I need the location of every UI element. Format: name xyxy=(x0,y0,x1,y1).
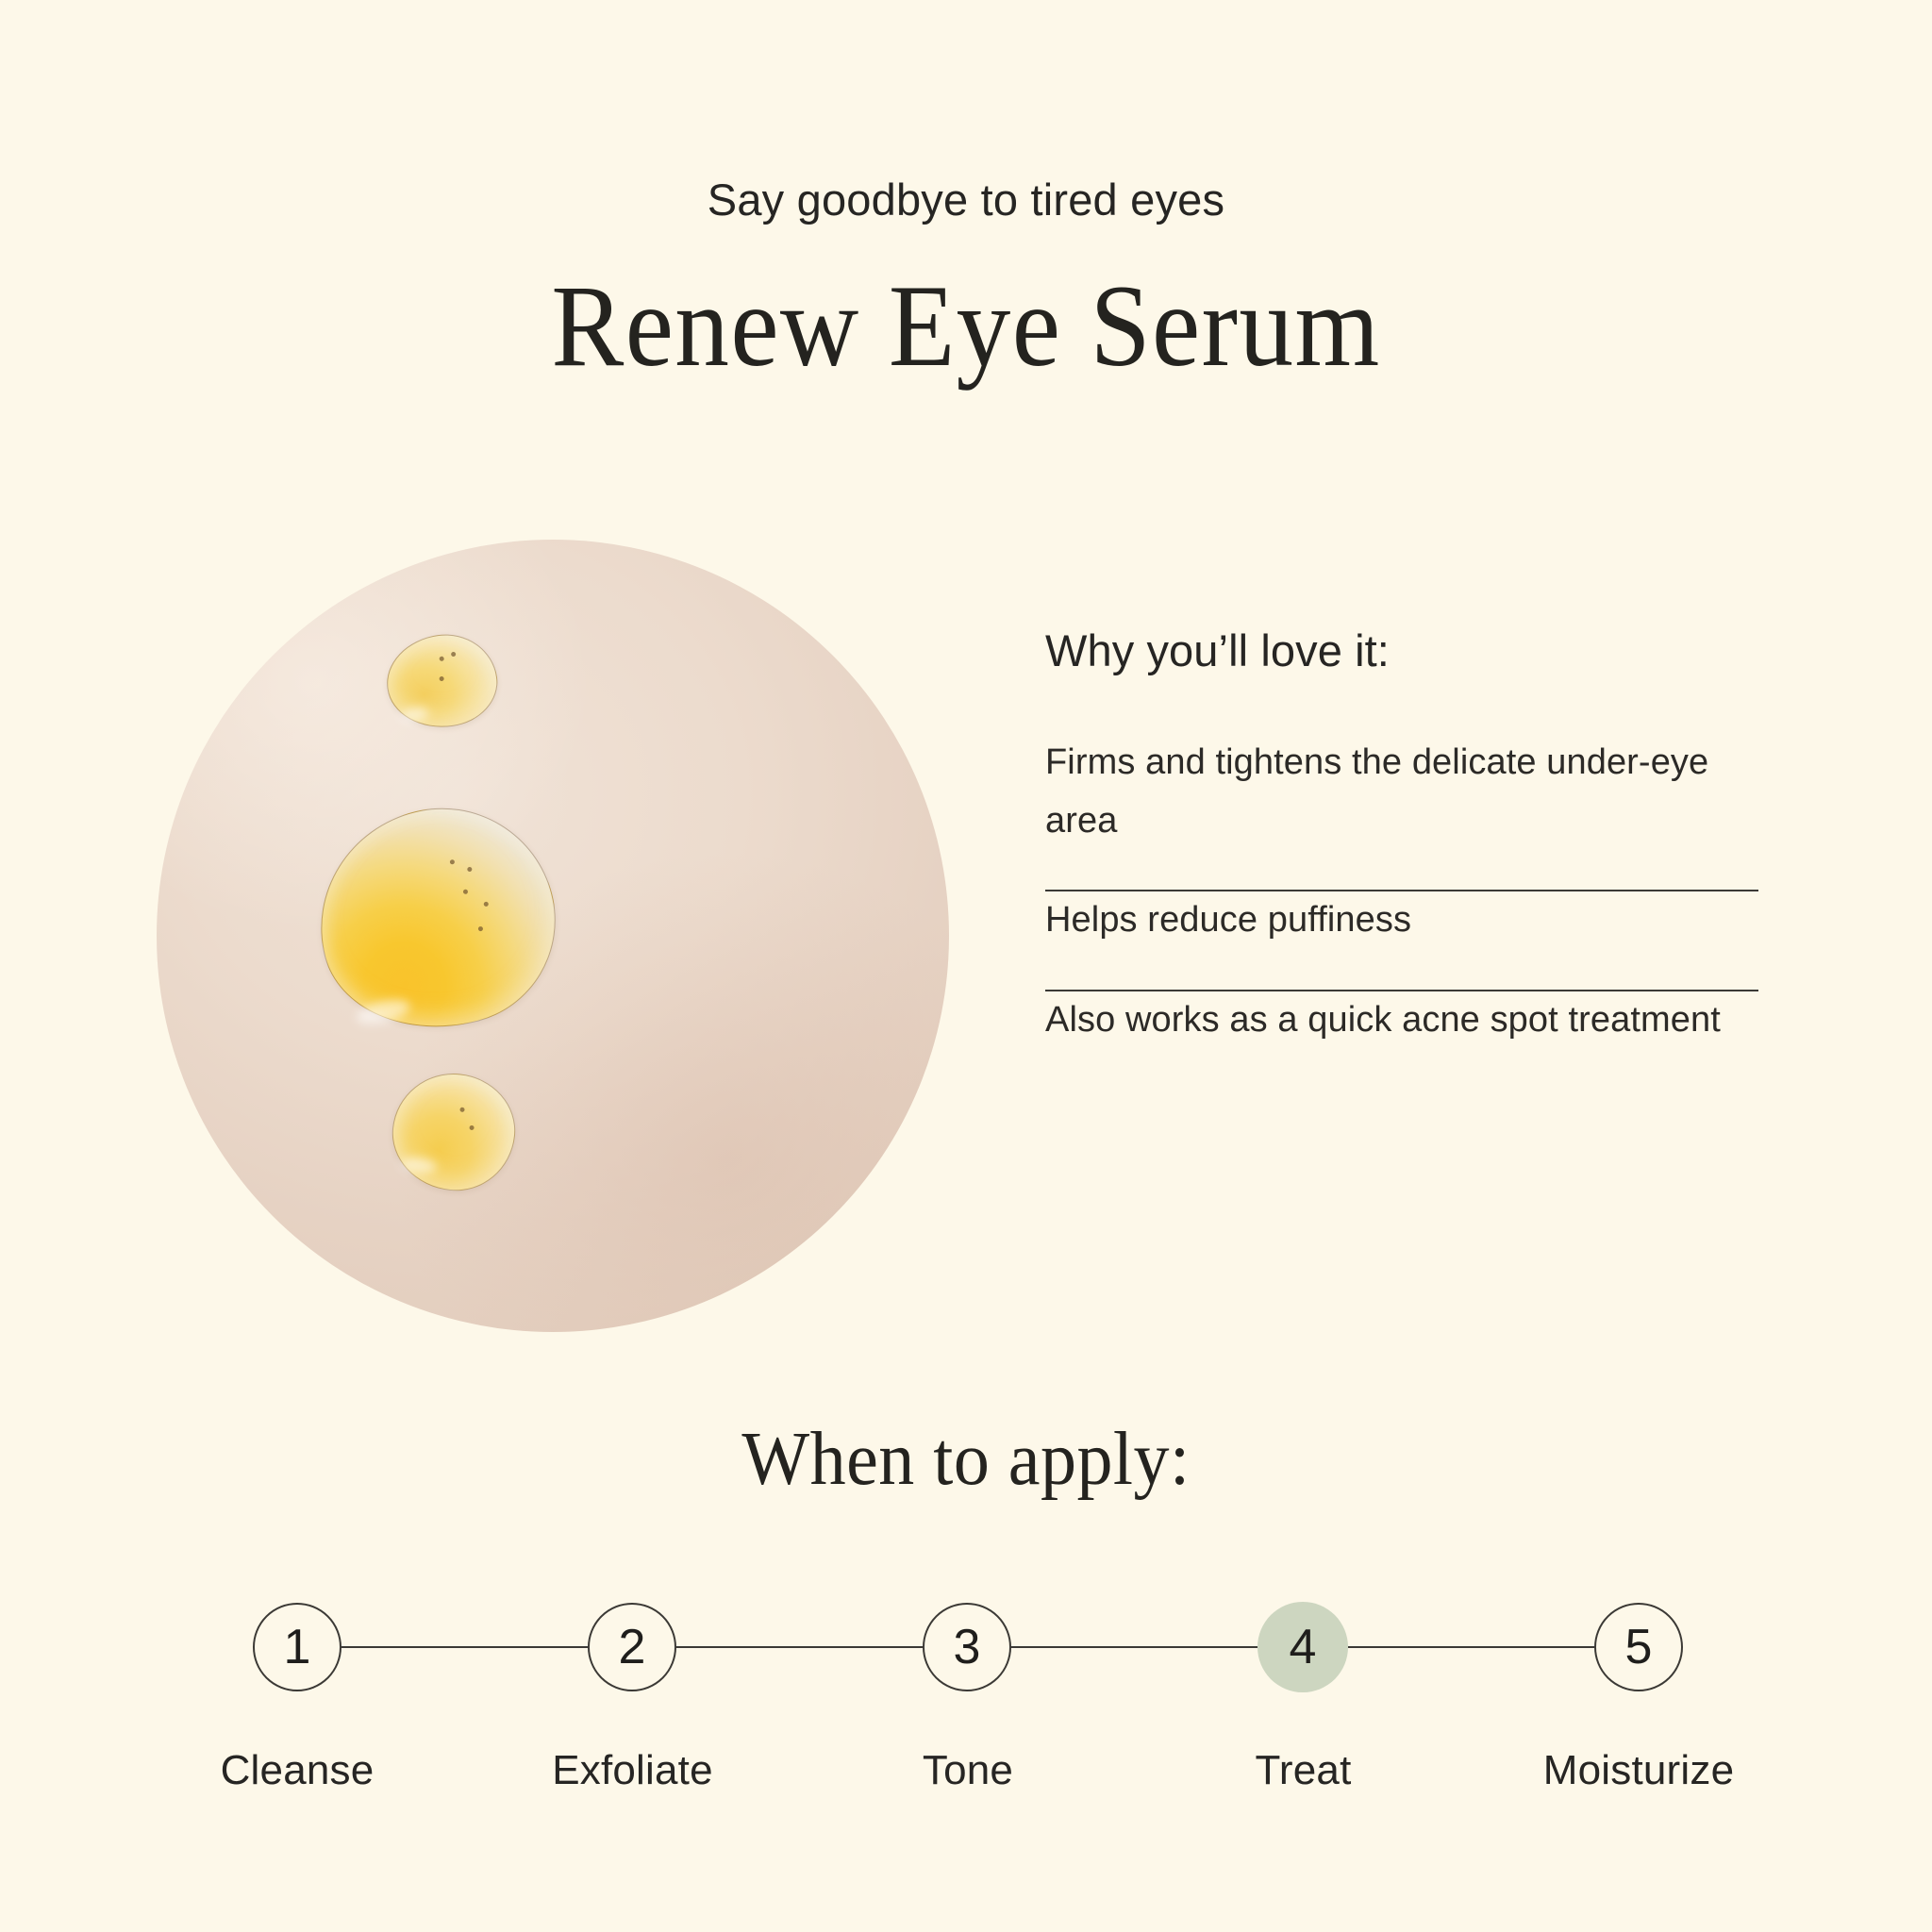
step-node-2[interactable]: 2 xyxy=(588,1603,676,1691)
step-connector xyxy=(341,1646,588,1648)
step-label-1: Cleanse xyxy=(189,1747,406,1794)
benefits-list: Why you’ll love it: Firms and tightens t… xyxy=(1045,625,1781,1090)
routine-heading: When to apply: xyxy=(48,1417,1884,1503)
droplet-speck xyxy=(459,1108,464,1112)
page-title: Renew Eye Serum xyxy=(68,268,1865,385)
droplet-speck xyxy=(477,926,483,932)
step-connector xyxy=(676,1646,923,1648)
step-connector xyxy=(1348,1646,1594,1648)
product-image-circle xyxy=(157,540,949,1332)
step-track: 1 2 3 4 5 xyxy=(253,1594,1683,1700)
eyebrow-tagline: Say goodbye to tired eyes xyxy=(0,175,1932,225)
step-node-3[interactable]: 3 xyxy=(923,1603,1011,1691)
step-node-4[interactable]: 4 xyxy=(1257,1602,1348,1692)
step-node-1[interactable]: 1 xyxy=(253,1603,341,1691)
droplet-speck xyxy=(462,889,468,894)
step-connector xyxy=(1011,1646,1257,1648)
benefit-item: Firms and tightens the delicate under-ey… xyxy=(1045,734,1781,890)
step-label-3: Tone xyxy=(859,1747,1076,1794)
droplet-highlight xyxy=(400,706,430,723)
droplet-speck xyxy=(449,859,455,865)
step-node-5[interactable]: 5 xyxy=(1594,1603,1683,1691)
droplet-speck xyxy=(483,901,489,907)
step-label-2: Exfoliate xyxy=(525,1747,741,1794)
step-labels: Cleanse Exfoliate Tone Treat Moisturize xyxy=(253,1747,1683,1794)
benefit-item: Helps reduce puffiness xyxy=(1045,891,1781,990)
droplet-speck xyxy=(451,652,457,658)
droplet-speck xyxy=(467,866,473,872)
droplet-speck xyxy=(469,1125,474,1130)
product-promo-page: Say goodbye to tired eyes Renew Eye Seru… xyxy=(0,0,1932,1932)
benefits-heading: Why you’ll love it: xyxy=(1045,625,1781,677)
header: Say goodbye to tired eyes Renew Eye Seru… xyxy=(0,175,1932,385)
routine-stepper: 1 2 3 4 5 Cleanse Exfoliate Tone Treat M… xyxy=(253,1594,1683,1830)
droplet-speck xyxy=(439,676,444,682)
step-label-4: Treat xyxy=(1195,1747,1412,1794)
step-label-5: Moisturize xyxy=(1530,1747,1747,1794)
benefit-item: Also works as a quick acne spot treatmen… xyxy=(1045,991,1781,1090)
droplet-speck xyxy=(439,656,444,661)
